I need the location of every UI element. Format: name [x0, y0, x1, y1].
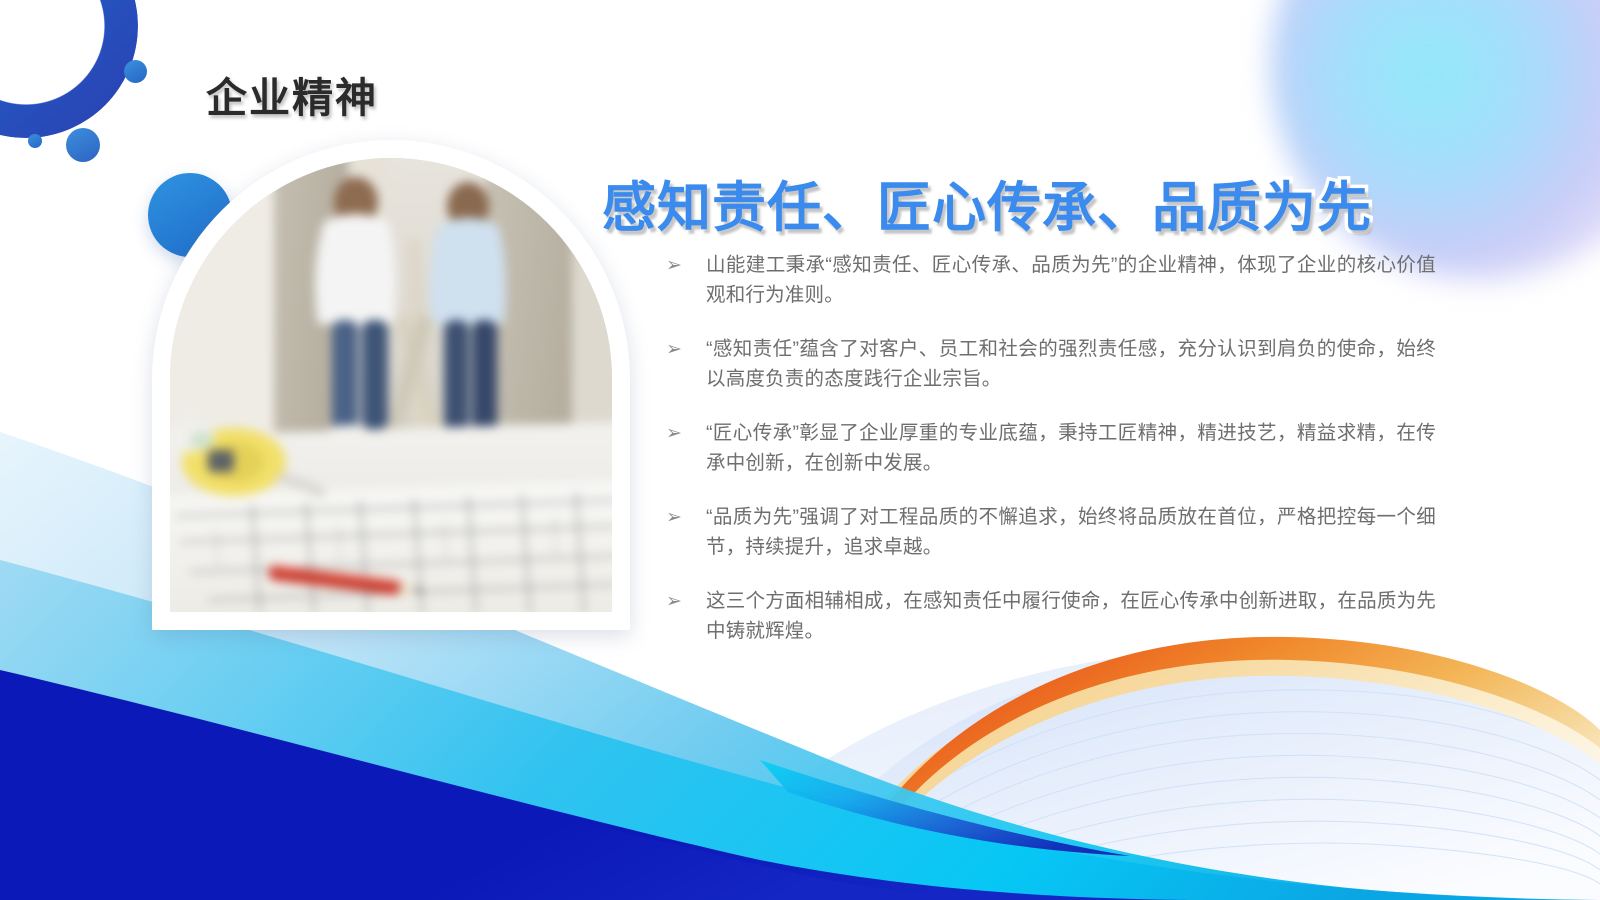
bullet-list: ➢ 山能建工秉承“感知责任、匠心传承、品质为先”的企业精神，体现了企业的核心价值…	[666, 250, 1436, 670]
photo-clip	[170, 158, 612, 612]
arrow-bullet-icon: ➢	[666, 502, 706, 532]
photo-frame	[152, 140, 630, 630]
slide-canvas: 企业精神	[0, 0, 1600, 900]
photo-container	[152, 140, 630, 630]
construction-blueprint-photo	[170, 158, 612, 612]
page-title: 企业精神	[206, 64, 378, 124]
list-item-text: 山能建工秉承“感知责任、匠心传承、品质为先”的企业精神，体现了企业的核心价值观和…	[706, 250, 1436, 310]
arrow-bullet-icon: ➢	[666, 418, 706, 448]
list-item: ➢ “品质为先”强调了对工程品质的不懈追求，始终将品质放在首位，严格把控每一个细…	[666, 502, 1436, 562]
list-item: ➢ 这三个方面相辅相成，在感知责任中履行使命，在匠心传承中创新进取，在品质为先中…	[666, 586, 1436, 646]
list-item-text: 这三个方面相辅相成，在感知责任中履行使命，在匠心传承中创新进取，在品质为先中铸就…	[706, 586, 1436, 646]
arrow-bullet-icon: ➢	[666, 334, 706, 364]
list-item: ➢ “匠心传承”彰显了企业厚重的专业底蕴，秉持工匠精神，精进技艺，精益求精，在传…	[666, 418, 1436, 478]
list-item-text: “品质为先”强调了对工程品质的不懈追求，始终将品质放在首位，严格把控每一个细节，…	[706, 502, 1436, 562]
list-item-text: “感知责任”蕴含了对客户、员工和社会的强烈责任感，充分认识到肩负的使命，始终以高…	[706, 334, 1436, 394]
list-item: ➢ 山能建工秉承“感知责任、匠心传承、品质为先”的企业精神，体现了企业的核心价值…	[666, 250, 1436, 310]
arrow-bullet-icon: ➢	[666, 250, 706, 280]
arrow-bullet-icon: ➢	[666, 586, 706, 616]
headline-slogan: 感知责任、匠心传承、品质为先	[602, 163, 1372, 242]
list-item-text: “匠心传承”彰显了企业厚重的专业底蕴，秉持工匠精神，精进技艺，精益求精，在传承中…	[706, 418, 1436, 478]
list-item: ➢ “感知责任”蕴含了对客户、员工和社会的强烈责任感，充分认识到肩负的使命，始终…	[666, 334, 1436, 394]
